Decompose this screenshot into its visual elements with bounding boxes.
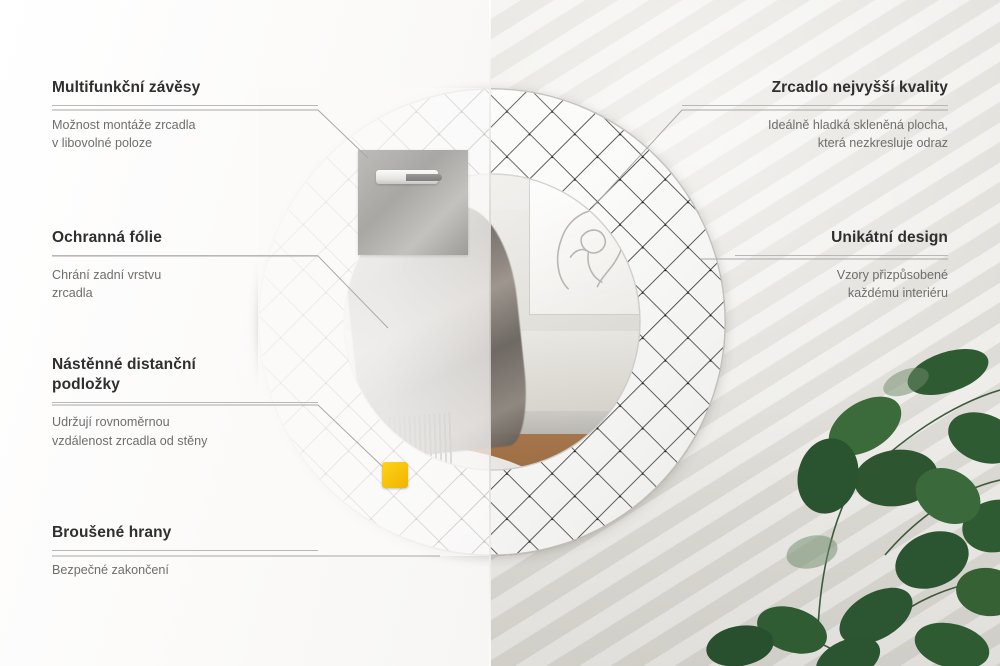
callout-rule [52,550,318,551]
callout-description: Možnost montáže zrcadlav libovolné poloz… [52,116,318,153]
callout-description: Chrání zadní vrstvuzrcadla [52,266,318,303]
yellow-spacer-pad [382,462,408,488]
callout-unikatni-design: Unikátní design Vzory přizpůsobenékaždém… [735,228,948,303]
callout-description: Udržují rovnoměrnouvzdálenost zrcadla od… [52,413,318,450]
panel-divider [489,0,491,666]
callout-rule [682,105,948,106]
callout-rule [52,402,318,403]
callout-title: Broušené hrany [52,523,318,543]
callout-rule [52,255,318,256]
foreground-plant-leaves [700,330,1000,666]
infographic-canvas: Multifunkční závěsy Možnost montáže zrca… [0,0,1000,666]
hanger-bracket-icon [376,170,438,184]
callout-zrcadlo-nejvyssi-kvality: Zrcadlo nejvyšší kvality Ideálně hladká … [682,78,948,153]
callout-nastenne-distancni-podlozky: Nástěnné distančnípodložky Udržují rovno… [52,355,318,450]
callout-title: Nástěnné distančnípodložky [52,355,318,395]
callout-brousene-hrany: Broušené hrany Bezpečné zakončení [52,523,318,579]
callout-multifunkcni-zavesy: Multifunkční závěsy Možnost montáže zrca… [52,78,318,153]
mirror-bevelled-edge [258,88,726,556]
round-mirror [258,88,726,556]
callout-title: Ochranná fólie [52,228,318,248]
callout-rule [52,105,318,106]
mirror-glass-disc [258,88,726,556]
callout-title: Multifunkční závěsy [52,78,318,98]
callout-ochranna-folie: Ochranná fólie Chrání zadní vrstvuzrcadl… [52,228,318,303]
callout-description: Vzory přizpůsobenékaždému interiéru [735,266,948,303]
callout-description: Ideálně hladká skleněná plocha,která nez… [682,116,948,153]
callout-description: Bezpečné zakončení [52,561,318,579]
callout-title: Unikátní design [735,228,948,248]
hanger-plate [358,150,468,255]
callout-title: Zrcadlo nejvyšší kvality [682,78,948,98]
callout-rule [735,255,948,256]
